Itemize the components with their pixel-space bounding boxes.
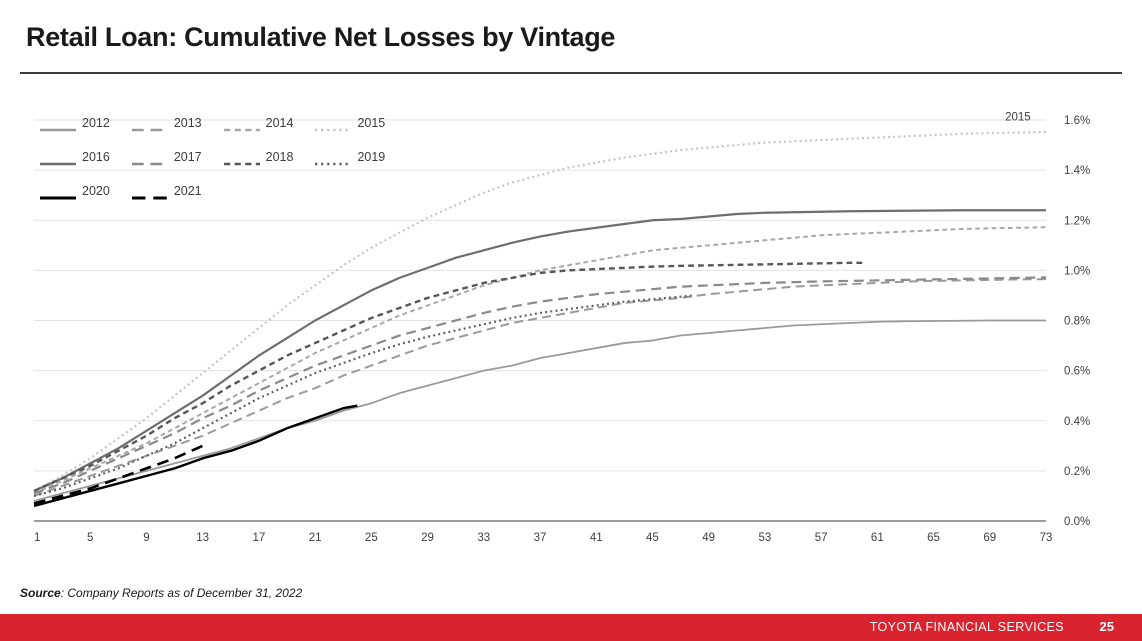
legend-swatch-2015	[315, 120, 351, 126]
x-axis-tick-label: 9	[143, 532, 149, 544]
x-axis-tick-label: 29	[421, 532, 434, 544]
legend-label-2017: 2017	[174, 150, 202, 164]
legend-item-2017[interactable]: 2017	[132, 150, 202, 164]
legend-row: 20202021	[40, 174, 407, 208]
footer-brand: TOYOTA FINANCIAL SERVICES	[870, 620, 1064, 634]
y-axis-tick-label: 0.0%	[1064, 516, 1090, 528]
legend-swatch-2013	[132, 120, 168, 126]
legend-item-2015[interactable]: 2015	[315, 116, 385, 130]
series-line-2016[interactable]	[34, 210, 1046, 491]
y-axis-tick-label: 0.8%	[1064, 316, 1090, 328]
legend-label-2016: 2016	[82, 150, 110, 164]
legend-item-2019[interactable]: 2019	[315, 150, 385, 164]
x-axis-tick-label: 57	[815, 532, 828, 544]
y-axis-tick-label: 1.0%	[1064, 265, 1090, 277]
y-axis-tick-label: 1.4%	[1064, 165, 1090, 177]
x-axis-tick-label: 33	[477, 532, 490, 544]
source-label: Source	[20, 586, 61, 600]
y-axis-tick-label: 0.6%	[1064, 366, 1090, 378]
legend-label-2020: 2020	[82, 184, 110, 198]
y-axis-tick-label: 0.2%	[1064, 466, 1090, 478]
legend-label-2018: 2018	[266, 150, 294, 164]
legend-label-2015: 2015	[357, 116, 385, 130]
legend-item-2020[interactable]: 2020	[40, 184, 110, 198]
series-line-2012[interactable]	[34, 321, 1046, 501]
legend-swatch-2017	[132, 154, 168, 160]
legend-item-2012[interactable]: 2012	[40, 116, 110, 130]
x-axis-tick-label: 5	[87, 532, 93, 544]
x-axis-tick-label: 45	[646, 532, 659, 544]
x-axis-tick-label: 13	[196, 532, 209, 544]
y-axis-tick-label: 0.4%	[1064, 416, 1090, 428]
series-line-2014[interactable]	[34, 227, 1046, 493]
y-axis-tick-label: 1.2%	[1064, 215, 1090, 227]
x-axis-tick-label: 65	[927, 532, 940, 544]
legend-swatch-2016	[40, 154, 76, 160]
legend-item-2014[interactable]: 2014	[224, 116, 294, 130]
y-axis-tick-label: 1.6%	[1064, 115, 1090, 127]
x-axis-tick-label: 21	[309, 532, 322, 544]
series-annotation-2015: 2015	[1005, 112, 1031, 124]
legend-label-2021: 2021	[174, 184, 202, 198]
title-divider	[20, 72, 1122, 74]
x-axis-tick-label: 37	[534, 532, 547, 544]
legend-item-2016[interactable]: 2016	[40, 150, 110, 164]
chart-legend: 2012201320142015201620172018201920202021	[40, 106, 407, 208]
legend-swatch-2018	[224, 154, 260, 160]
legend-item-2013[interactable]: 2013	[132, 116, 202, 130]
series-line-2019[interactable]	[34, 295, 695, 496]
legend-swatch-2012	[40, 120, 76, 126]
source-text: : Company Reports as of December 31, 202…	[61, 586, 302, 600]
legend-row: 2016201720182019	[40, 140, 407, 174]
x-axis-tick-label: 25	[365, 532, 378, 544]
legend-label-2013: 2013	[174, 116, 202, 130]
page-title: Retail Loan: Cumulative Net Losses by Vi…	[26, 22, 615, 53]
x-axis-tick-label: 69	[983, 532, 996, 544]
slide-root: Retail Loan: Cumulative Net Losses by Vi…	[0, 0, 1142, 641]
source-note: Source: Company Reports as of December 3…	[20, 586, 302, 600]
x-axis-tick-label: 61	[871, 532, 884, 544]
legend-swatch-2020	[40, 188, 76, 194]
x-axis-tick-label: 53	[758, 532, 771, 544]
legend-swatch-2019	[315, 154, 351, 160]
x-axis-tick-label: 17	[252, 532, 265, 544]
legend-label-2014: 2014	[266, 116, 294, 130]
page-number: 25	[1100, 619, 1114, 634]
legend-swatch-2014	[224, 120, 260, 126]
legend-label-2019: 2019	[357, 150, 385, 164]
legend-label-2012: 2012	[82, 116, 110, 130]
legend-row: 2012201320142015	[40, 106, 407, 140]
x-axis-tick-label: 41	[590, 532, 603, 544]
legend-item-2021[interactable]: 2021	[132, 184, 202, 198]
x-axis-tick-label: 49	[702, 532, 715, 544]
x-axis-tick-label: 1	[34, 532, 40, 544]
legend-swatch-2021	[132, 188, 168, 194]
x-axis-tick-label: 73	[1040, 532, 1053, 544]
legend-item-2018[interactable]: 2018	[224, 150, 294, 164]
